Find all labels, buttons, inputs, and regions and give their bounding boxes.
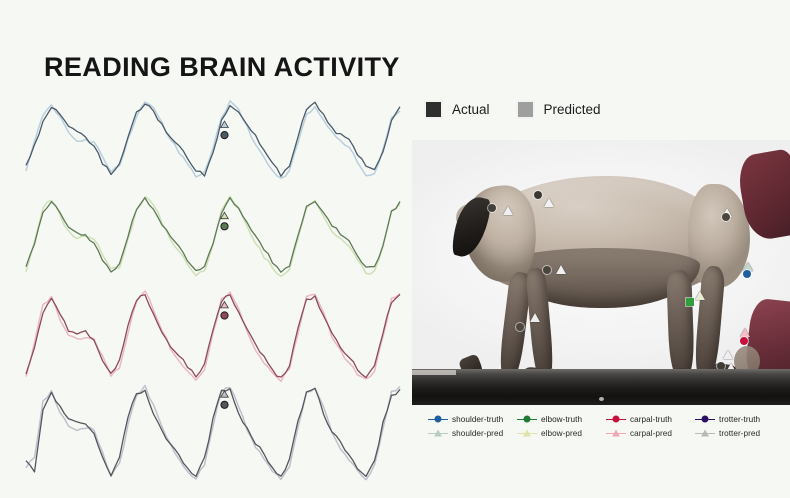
shoulder-truth-dot-icon <box>743 270 751 278</box>
circle-marker-glyph <box>534 191 542 199</box>
pig-hind-leg-left <box>666 270 695 375</box>
triangle-marker-glyph <box>530 313 540 322</box>
waveform-cursor-truth-dot <box>221 223 228 230</box>
truth-marker-icon <box>695 414 715 424</box>
treadmill-marker-dot <box>599 397 604 401</box>
legend-item-predicted: Predicted <box>516 100 601 119</box>
triangle-marker-glyph <box>503 206 513 215</box>
circle-marker-glyph <box>743 270 751 278</box>
joint-legend-truth-label: shoulder-truth <box>452 415 503 424</box>
legend-label-actual: Actual <box>452 102 490 117</box>
trunk-tri-b-icon <box>544 198 554 207</box>
joint-legend-truth-label: carpal-truth <box>630 415 672 424</box>
waveform-cursor-pred-triangle <box>221 121 229 127</box>
actual-predicted-legend: Actual Predicted <box>424 100 601 119</box>
joint-legend-truth-row: shoulder-truth <box>428 412 517 426</box>
pred-marker-icon <box>606 428 626 438</box>
circle-marker-glyph <box>516 323 524 331</box>
waveform-predicted-line <box>26 101 400 178</box>
joint-legend-pred-row: shoulder-pred <box>428 426 517 440</box>
joint-legend-column-3: trotter-truthtrotter-pred <box>695 412 784 440</box>
truth-marker-icon <box>428 414 448 424</box>
truth-marker-icon <box>517 414 537 424</box>
truth-marker-icon <box>606 414 626 424</box>
joint-legend-truth-row: carpal-truth <box>606 412 695 426</box>
treadmill-rail <box>412 370 456 375</box>
joint-legend-truth-label: trotter-truth <box>719 415 760 424</box>
circle-marker-glyph <box>740 337 748 345</box>
waveform-chart <box>18 92 408 492</box>
joint-legend-truth-row: elbow-truth <box>517 412 606 426</box>
elbow-pred-tri-icon <box>695 291 705 300</box>
joint-legend-column-1: elbow-truthelbow-pred <box>517 412 606 440</box>
joint-legend-column-2: carpal-truthcarpal-pred <box>606 412 695 440</box>
elbow-truth-sq-icon <box>686 298 694 306</box>
joint-legend-pred-row: elbow-pred <box>517 426 606 440</box>
foreknee-tri-icon <box>530 313 540 322</box>
carpal-truth-dot-icon <box>740 337 748 345</box>
waveform-cursor-truth-dot <box>221 312 228 319</box>
waveform-cursor-truth-dot <box>221 401 228 408</box>
pred-marker-icon <box>517 428 537 438</box>
pred-marker-icon <box>695 428 715 438</box>
carpal-pred-tri-icon <box>740 328 750 337</box>
joint-legend-pred-label: elbow-pred <box>541 429 582 438</box>
waveform-track-trotter <box>18 377 408 498</box>
scapula-dot-icon <box>543 266 551 274</box>
filled-square-icon <box>516 100 535 119</box>
joint-legend-truth-row: trotter-truth <box>695 412 784 426</box>
circle-marker-glyph <box>722 213 730 221</box>
joint-legend-pred-label: shoulder-pred <box>452 429 503 438</box>
triangle-marker-glyph <box>544 198 554 207</box>
square-marker-glyph <box>686 298 694 306</box>
trotter-tri-a-icon <box>723 350 733 359</box>
joint-legend-pred-row: trotter-pred <box>695 426 784 440</box>
waveform-actual-line <box>26 102 400 176</box>
waveform-cursor-truth-dot <box>221 132 228 139</box>
waveform-actual-line <box>26 198 400 273</box>
hip-dot-icon <box>722 213 730 221</box>
video-frame <box>412 140 790 405</box>
triangle-marker-glyph <box>723 350 733 359</box>
circle-marker-glyph <box>488 204 496 212</box>
joint-legend-pred-label: trotter-pred <box>719 429 760 438</box>
foreknee-dot-icon <box>516 323 524 331</box>
joint-legend-truth-label: elbow-truth <box>541 415 582 424</box>
waveform-actual-line <box>26 388 400 476</box>
joint-legend: shoulder-truthshoulder-predelbow-truthel… <box>428 412 786 440</box>
triangle-marker-glyph <box>740 328 750 337</box>
triangle-marker-glyph <box>556 265 566 274</box>
screenshot-root: READING BRAIN ACTIVITY Actual Predicted <box>0 0 790 498</box>
triangle-marker-glyph <box>695 291 705 300</box>
joint-legend-column-0: shoulder-truthshoulder-pred <box>428 412 517 440</box>
legend-item-actual: Actual <box>424 100 490 119</box>
trunk-dot-a-icon <box>488 204 496 212</box>
legend-label-predicted: Predicted <box>544 102 601 117</box>
trunk-dot-b-icon <box>534 191 542 199</box>
joint-legend-pred-row: carpal-pred <box>606 426 695 440</box>
filled-square-icon <box>424 100 443 119</box>
pred-marker-icon <box>428 428 448 438</box>
waveform-predicted-line <box>26 291 400 381</box>
scapula-tri-icon <box>556 265 566 274</box>
trunk-tri-a-icon <box>503 206 513 215</box>
page-title: READING BRAIN ACTIVITY <box>44 52 400 83</box>
joint-legend-pred-label: carpal-pred <box>630 429 672 438</box>
waveform-predicted-line <box>26 386 400 480</box>
circle-marker-glyph <box>543 266 551 274</box>
